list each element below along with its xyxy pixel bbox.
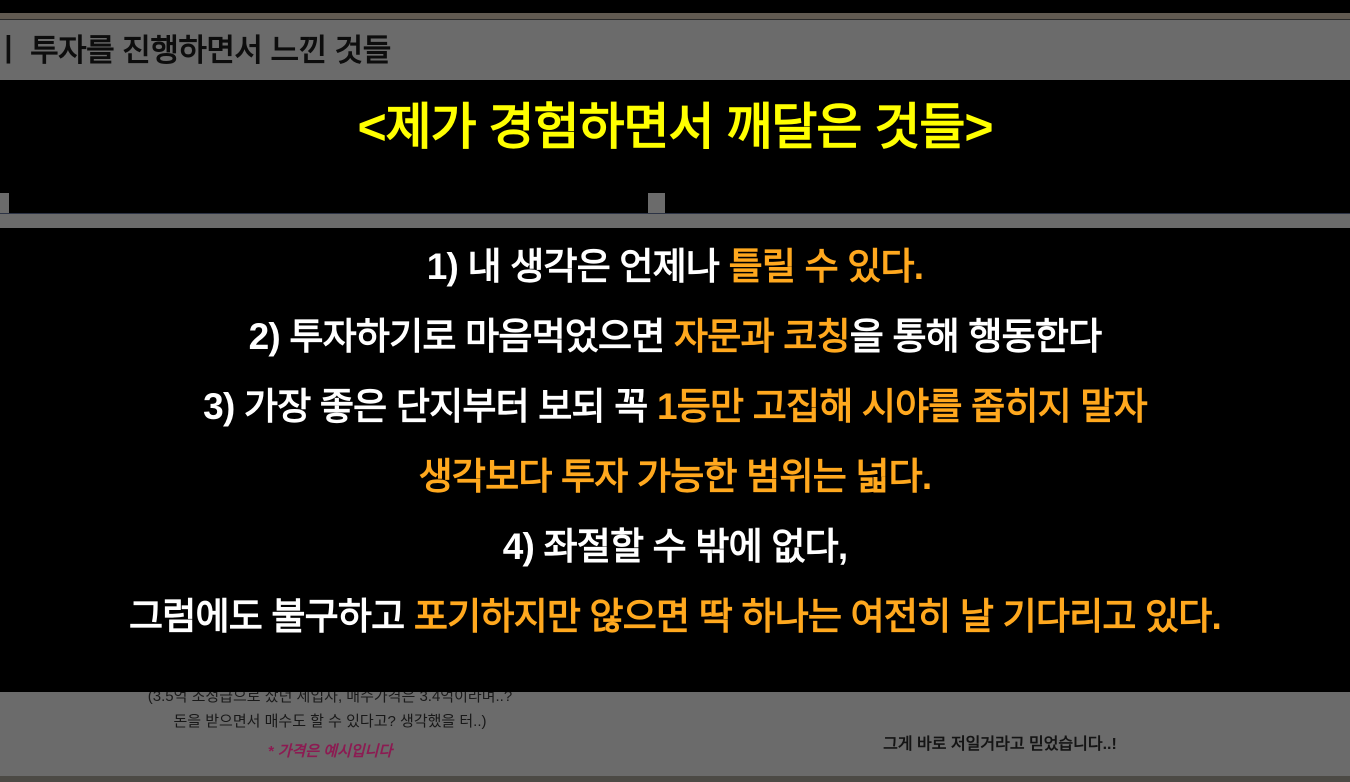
slide-line-6-highlight: 포기하지만 않으면 딱 하나는 여전히 날 기다리고 있다. xyxy=(414,596,1221,637)
slide-divider xyxy=(0,193,1350,228)
slide-line-3-plain: 3) 가장 좋은 단지부터 보되 꼭 xyxy=(203,386,657,427)
slide-line-2-plain: 2) 투자하기로 마음먹었으면 xyxy=(249,316,674,357)
slide-title: <제가 경험하면서 깨달은 것들> xyxy=(0,100,1350,155)
slide-line-4: 생각보다 투자 가능한 범위는 넓다. xyxy=(0,458,1350,495)
slide-line-2: 2) 투자하기로 마음먹었으면 자문과 코칭을 통해 행동한다 xyxy=(0,318,1350,355)
slide-line-5-plain: 4) 좌절할 수 밖에 없다, xyxy=(503,526,848,567)
window-header-title: ㅣ 투자를 진행하면서 느낀 것들 xyxy=(0,35,391,66)
slide-line-2-highlight: 자문과 코칭 xyxy=(674,316,850,357)
slide-line-3: 3) 가장 좋은 단지부터 보되 꼭 1등만 고집해 시야를 좁히지 말자 xyxy=(0,388,1350,425)
slide-line-3-highlight: 1등만 고집해 시야를 좁히지 말자 xyxy=(657,386,1147,427)
slide-body-lines: 1) 내 생각은 언제나 틀릴 수 있다. 2) 투자하기로 마음먹었으면 자문… xyxy=(0,248,1350,635)
background-slide-strip: (3.5억 조정급으로 샀던 세입자, 매수가격은 3.4억이라며..? 돈을 … xyxy=(0,692,1350,782)
bottom-base-line xyxy=(0,776,1350,782)
divider-tab-left xyxy=(0,193,9,215)
slide-line-2-plain-tail: 을 통해 행동한다 xyxy=(850,316,1102,357)
presentation-slide: <제가 경험하면서 깨달은 것들> 1) 내 생각은 언제나 틀릴 수 있다. … xyxy=(0,80,1350,692)
background-right-caption: 그게 바로 저일거라고 믿었습니다..! xyxy=(690,730,1310,754)
slide-line-6: 그럼에도 불구하고 포기하지만 않으면 딱 하나는 여전히 날 기다리고 있다. xyxy=(0,598,1350,635)
background-price-note: * 가격은 예시입니다 xyxy=(0,740,660,761)
top-black-strip xyxy=(0,0,1350,13)
slide-line-5: 4) 좌절할 수 밖에 없다, xyxy=(0,528,1350,565)
background-left-caption: (3.5억 조정급으로 샀던 세입자, 매수가격은 3.4억이라며..? 돈을 … xyxy=(0,692,660,761)
slide-line-4-highlight: 생각보다 투자 가능한 범위는 넓다. xyxy=(419,456,932,497)
slide-line-1-highlight: 틀릴 수 있다. xyxy=(729,246,924,287)
slide-line-1: 1) 내 생각은 언제나 틀릴 수 있다. xyxy=(0,248,1350,285)
slide-line-6-plain: 그럼에도 불구하고 xyxy=(129,596,414,637)
top-brown-divider xyxy=(0,13,1350,20)
window-header-bar: ㅣ 투자를 진행하면서 느낀 것들 xyxy=(0,20,1350,80)
divider-bar xyxy=(0,213,1350,228)
divider-tab-middle xyxy=(648,193,665,215)
slide-line-1-plain: 1) 내 생각은 언제나 xyxy=(427,246,729,287)
background-caption-line-2: 돈을 받으면서 매수도 할 수 있다고? 생각했을 터..) xyxy=(0,710,660,731)
background-clipped-line: (3.5억 조정급으로 샀던 세입자, 매수가격은 3.4억이라며..? xyxy=(0,692,660,706)
